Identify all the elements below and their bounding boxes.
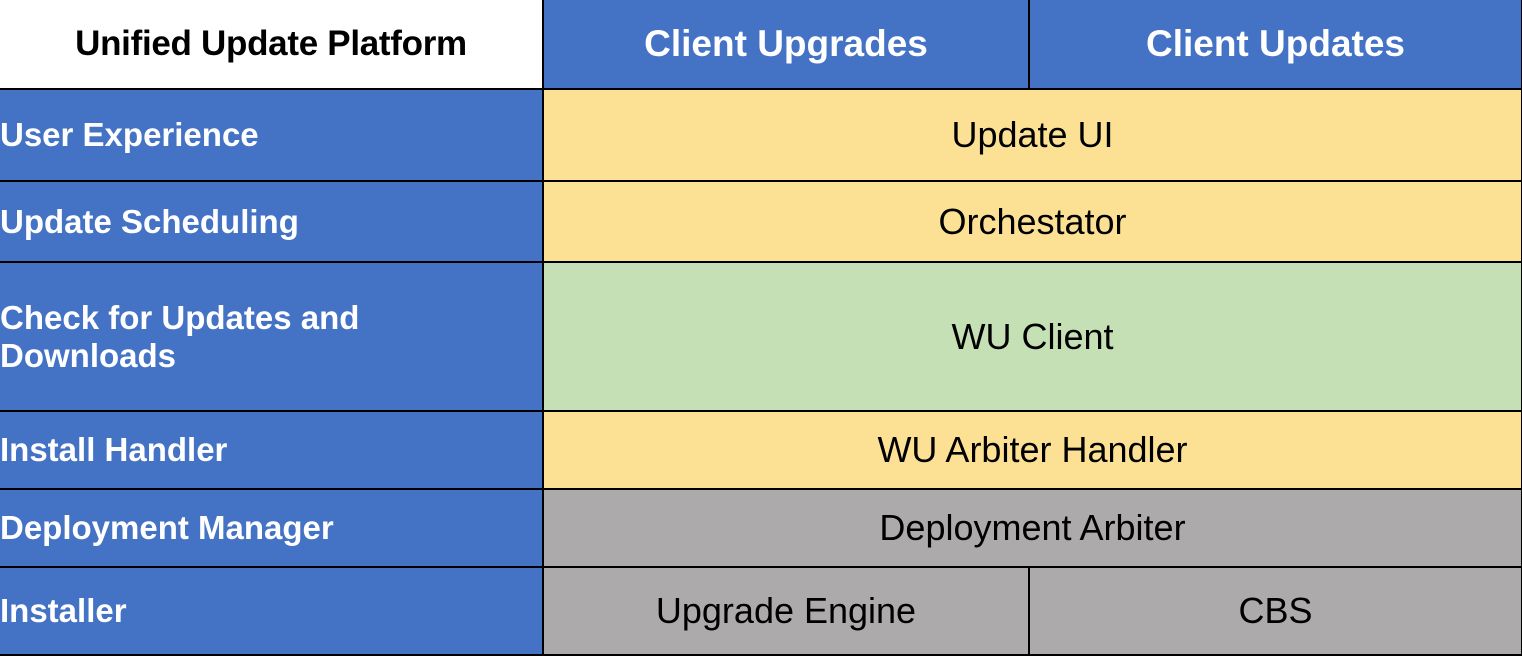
- table-row: Install Handler WU Arbiter Handler: [0, 411, 1522, 489]
- component-update-ui: Update UI: [543, 89, 1522, 181]
- table-row: Deployment Manager Deployment Arbiter: [0, 489, 1522, 567]
- component-cbs: CBS: [1029, 567, 1522, 655]
- row-label-check-for-updates-and-downloads: Check for Updates and Downloads: [0, 262, 543, 411]
- table-row: User Experience Update UI: [0, 89, 1522, 181]
- component-orchestator: Orchestator: [543, 181, 1522, 262]
- row-label-user-experience: User Experience: [0, 89, 543, 181]
- column-header-client-upgrades: Client Upgrades: [543, 0, 1029, 89]
- row-label-install-handler: Install Handler: [0, 411, 543, 489]
- component-wu-arbiter-handler: WU Arbiter Handler: [543, 411, 1522, 489]
- component-wu-client: WU Client: [543, 262, 1522, 411]
- row-label-update-scheduling: Update Scheduling: [0, 181, 543, 262]
- unified-update-platform-table: Unified Update Platform Client Upgrades …: [0, 0, 1522, 656]
- table-row: Check for Updates and Downloads WU Clien…: [0, 262, 1522, 411]
- row-label-deployment-manager: Deployment Manager: [0, 489, 543, 567]
- column-header-client-updates: Client Updates: [1029, 0, 1522, 89]
- component-deployment-arbiter: Deployment Arbiter: [543, 489, 1522, 567]
- row-label-installer: Installer: [0, 567, 543, 655]
- component-upgrade-engine: Upgrade Engine: [543, 567, 1029, 655]
- table-title-cell: Unified Update Platform: [0, 0, 543, 89]
- table-row: Update Scheduling Orchestator: [0, 181, 1522, 262]
- table-row: Installer Upgrade Engine CBS: [0, 567, 1522, 655]
- table-header-row: Unified Update Platform Client Upgrades …: [0, 0, 1522, 89]
